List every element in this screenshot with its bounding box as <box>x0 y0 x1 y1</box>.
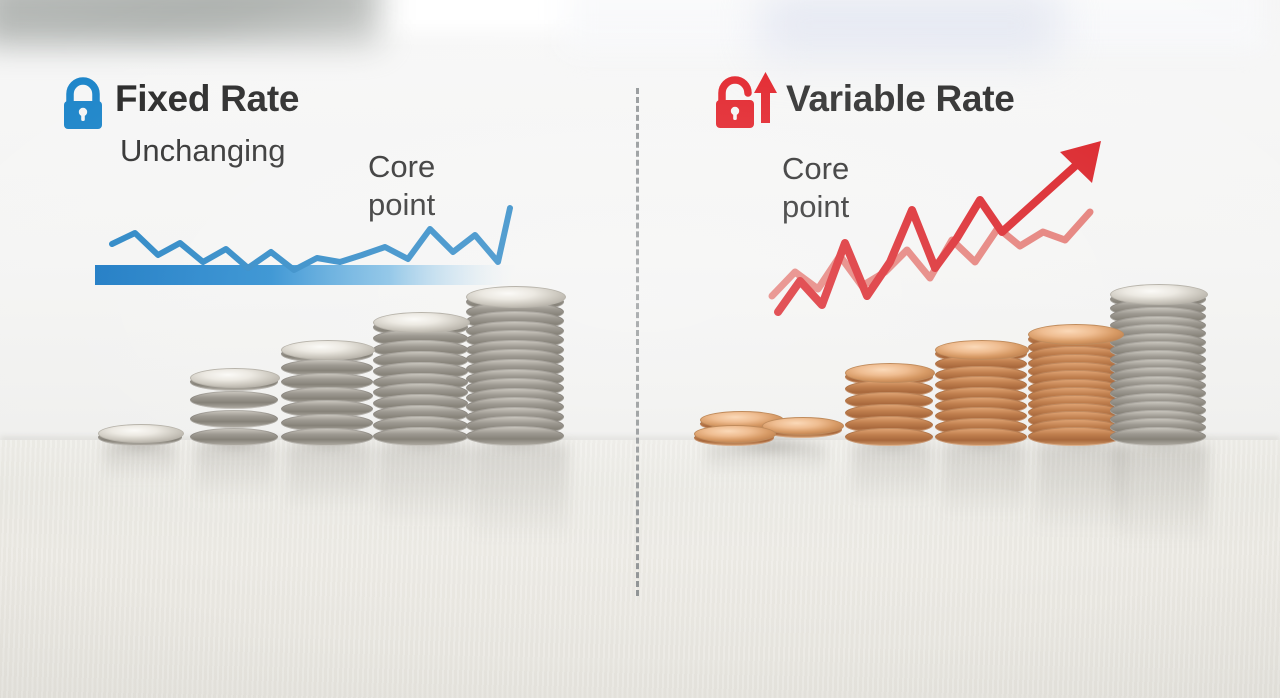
coin <box>281 428 373 446</box>
coin <box>1028 427 1122 446</box>
coin <box>373 427 468 446</box>
coin <box>190 428 278 446</box>
coin-stack-right-5 <box>1110 290 1206 446</box>
coin-top-face <box>845 363 935 383</box>
coin-top-face <box>190 368 280 388</box>
coin-stack-left-5 <box>466 292 564 446</box>
coin-top-face <box>98 424 184 443</box>
coin-top-face <box>694 425 776 443</box>
coin <box>190 410 278 428</box>
coin-stack-right-2 <box>845 368 933 446</box>
variable-rate-title: Variable Rate <box>786 80 1015 117</box>
coin-top-face <box>466 286 566 308</box>
coin-top-face <box>373 312 470 333</box>
coin-top-face <box>1110 284 1208 305</box>
coin <box>1110 427 1206 446</box>
variable-rate-heading: Variable Rate <box>786 80 1015 117</box>
infographic-canvas: Fixed Rate Unchanging Core point Variabl… <box>0 0 1280 698</box>
coin-stack-left-3 <box>281 345 373 446</box>
open-padlock-up-arrow-icon <box>716 72 777 128</box>
fixed-rate-subtitle: Unchanging <box>120 135 285 166</box>
coin <box>845 428 933 446</box>
coin-stack-right-3 <box>935 345 1027 446</box>
variable-rate-callout: Core point <box>782 150 849 226</box>
fixed-rate-line <box>112 208 510 270</box>
coin-top-face <box>281 340 375 360</box>
coin <box>466 426 564 446</box>
coin-top-face <box>1028 324 1124 345</box>
fixed-rate-callout: Core point <box>368 148 435 224</box>
coin-stack-right-4 <box>1028 330 1122 446</box>
coin-stack-left-4 <box>373 318 468 446</box>
coin <box>935 428 1027 446</box>
fixed-rate-heading: Fixed Rate <box>115 80 299 117</box>
coin-top-face <box>935 340 1029 360</box>
fixed-rate-title: Fixed Rate <box>115 80 299 117</box>
up-arrow-icon <box>754 72 777 123</box>
closed-padlock-icon <box>64 81 102 129</box>
fixed-rate-baseline-bar <box>95 265 515 285</box>
